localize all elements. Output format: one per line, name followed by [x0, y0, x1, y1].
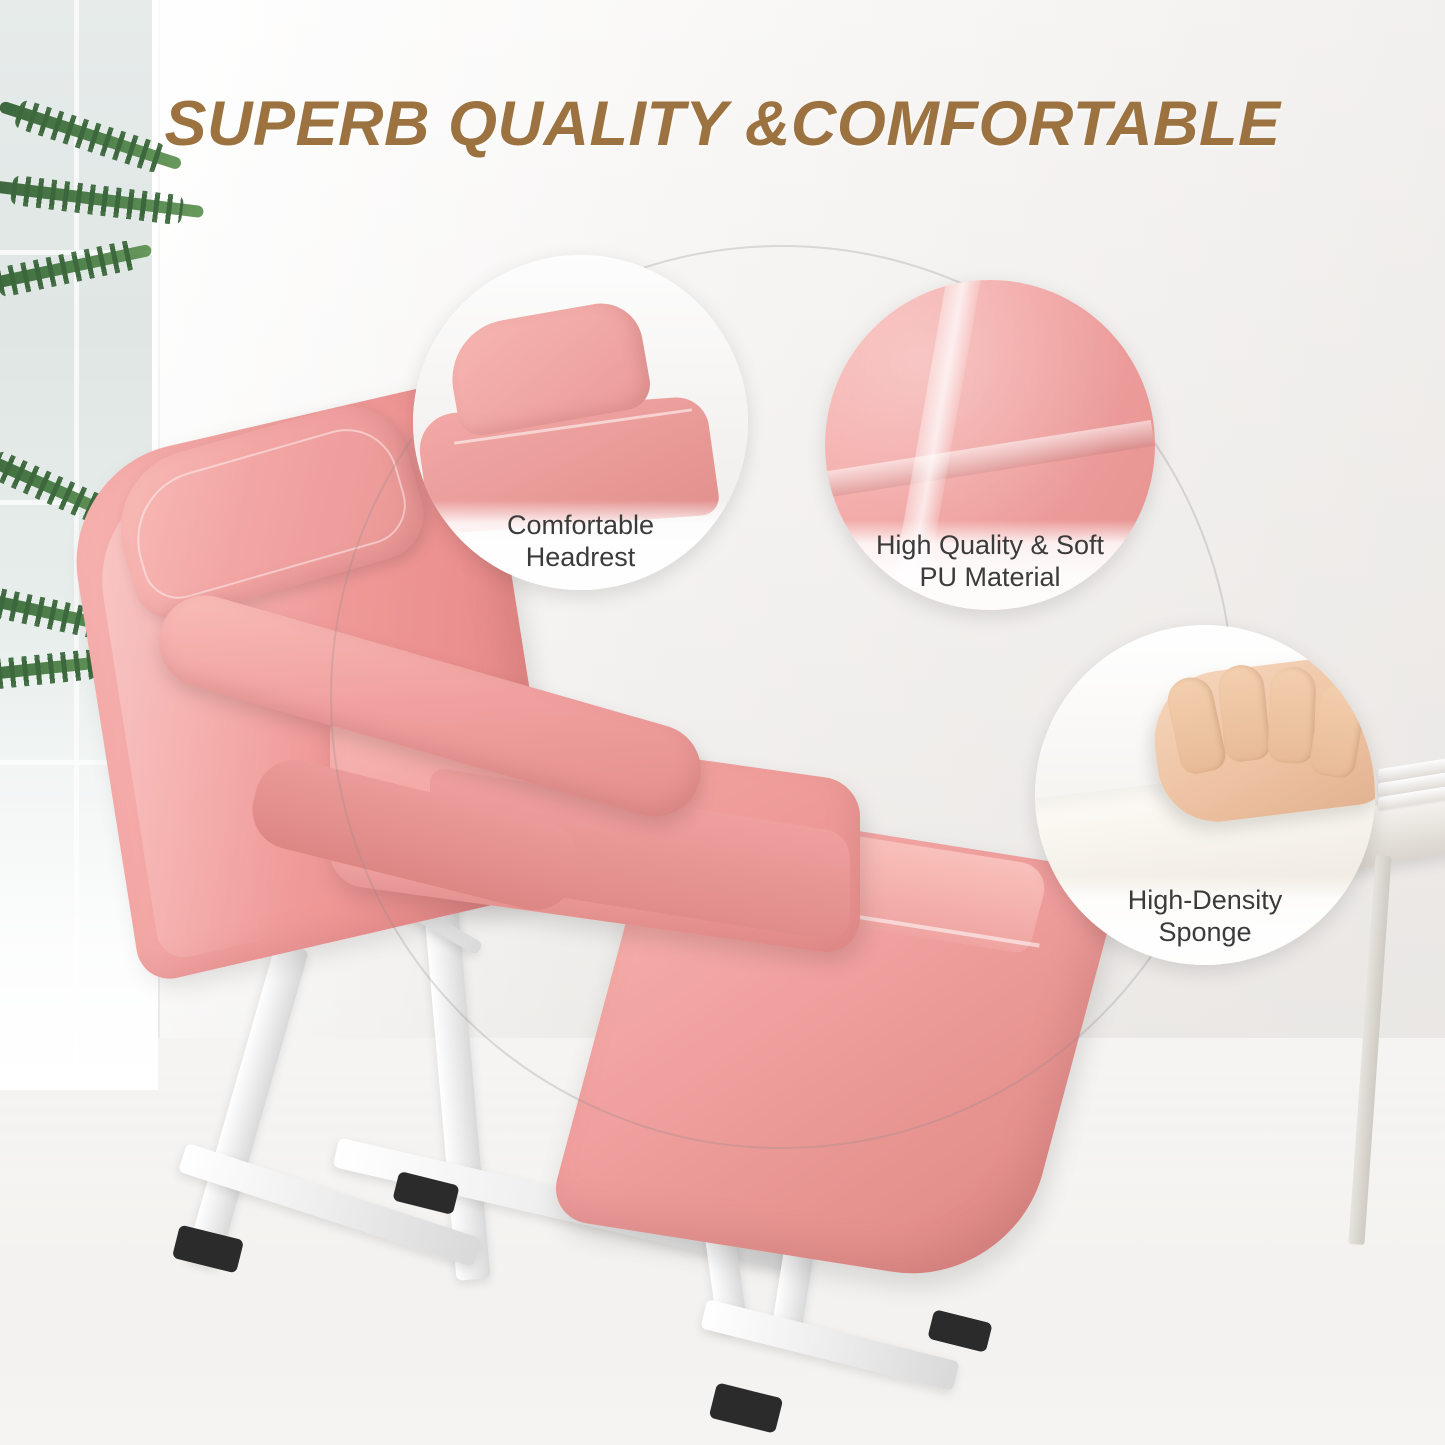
- feature-caption-pu-line2: PU Material: [839, 562, 1141, 594]
- feature-bubble-headrest: Comfortable Headrest: [413, 255, 748, 590]
- feature-caption-headrest-line1: Comfortable: [427, 510, 734, 542]
- foot-cap-rear-left: [709, 1382, 784, 1433]
- foot-cap-front-left: [172, 1225, 244, 1274]
- frame-leg-front-left: [185, 942, 309, 1269]
- feature-bubble-sponge: High-Density Sponge: [1035, 625, 1375, 965]
- feature-caption-sponge: High-Density Sponge: [1035, 875, 1375, 965]
- feature-caption-headrest-line2: Headrest: [427, 542, 734, 574]
- feature-caption-sponge-line1: High-Density: [1049, 885, 1361, 917]
- product-image-canvas: SUPERB QUALITY &COMFORTABLE: [0, 0, 1445, 1445]
- feature-caption-headrest: Comfortable Headrest: [413, 500, 748, 590]
- feature-bubble-pu-material: High Quality & Soft PU Material: [825, 280, 1155, 610]
- feature-caption-sponge-line2: Sponge: [1049, 917, 1361, 949]
- feature-caption-pu-line1: High Quality & Soft: [839, 530, 1141, 562]
- foot-cap-rear-right: [927, 1309, 992, 1353]
- frame-base-rear: [700, 1299, 960, 1391]
- feature-caption-pu-material: High Quality & Soft PU Material: [825, 520, 1155, 610]
